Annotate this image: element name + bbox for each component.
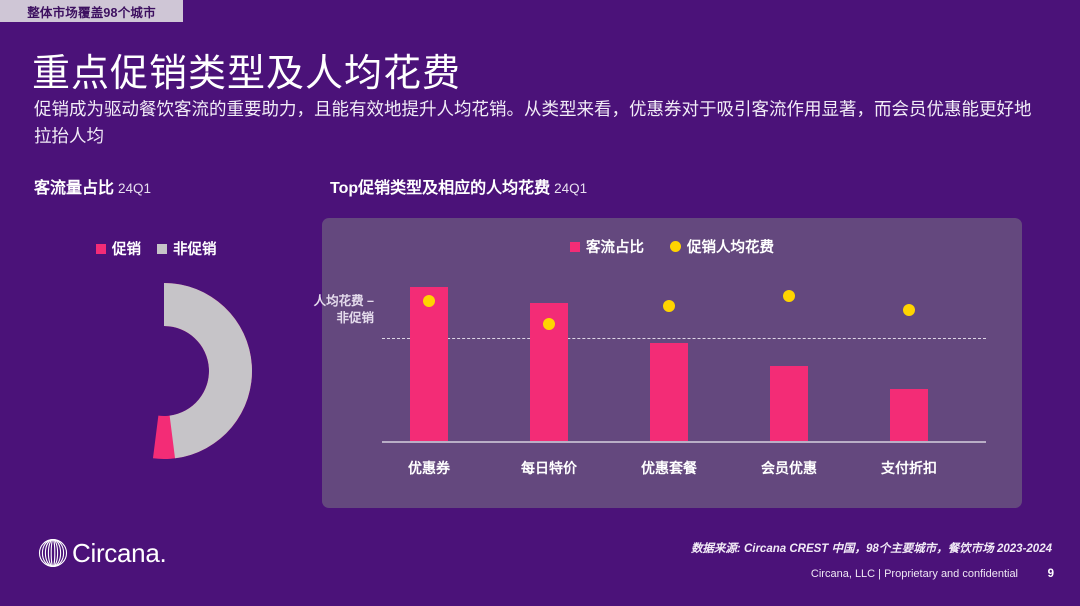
section-header-right: Top促销类型及相应的人均花费24Q1 (330, 174, 587, 198)
slide-root: 整体市场覆盖98个城市 重点促销类型及人均花费 促销成为驱动餐饮客流的重要助力，… (0, 0, 1080, 606)
donut-chart (73, 280, 255, 462)
section-right-period: 24Q1 (554, 181, 587, 196)
page-number: 9 (1048, 568, 1054, 580)
scatter-dot-会员优惠 (783, 290, 795, 302)
x-axis-line (382, 441, 986, 443)
scatter-dot-支付折扣 (903, 304, 915, 316)
section-left-period: 24Q1 (118, 181, 151, 196)
section-left-title: 客流量占比 (34, 180, 114, 197)
category-label-优惠券: 优惠券 (374, 458, 484, 478)
category-label-会员优惠: 会员优惠 (734, 458, 844, 478)
circana-logo-text: Circana. (72, 538, 166, 569)
confidentiality-note: Circana, LLC | Proprietary and confident… (811, 568, 1018, 580)
section-header-left: 客流量占比24Q1 (34, 174, 151, 198)
legend-swatch-icon-non-promotion (157, 244, 167, 254)
legend-swatch-icon-promotion (96, 244, 106, 254)
category-label-优惠套餐: 优惠套餐 (614, 458, 724, 478)
circana-logo: Circana. (36, 536, 166, 570)
category-label-支付折扣: 支付折扣 (854, 458, 964, 478)
donut-legend: 促销 非促销 (96, 238, 217, 259)
scatter-dot-优惠套餐 (663, 300, 675, 312)
category-label-每日特价: 每日特价 (494, 458, 604, 478)
reference-line-label-line1: 人均花费 – (288, 293, 374, 310)
legend-item-non-promotion: 非促销 (157, 238, 217, 259)
bar-支付折扣 (890, 389, 928, 441)
scatter-dot-优惠券 (423, 295, 435, 307)
top-tag-label: 整体市场覆盖98个城市 (27, 2, 156, 21)
reference-line (382, 338, 986, 339)
bar-优惠套餐 (650, 343, 688, 441)
section-right-title: Top促销类型及相应的人均花费 (330, 180, 550, 197)
reference-line-label-line2: 非促销 (288, 310, 374, 327)
page-title: 重点促销类型及人均花费 (32, 42, 461, 97)
top-tag-banner: 整体市场覆盖98个城市 (0, 0, 183, 22)
legend-label-non-promotion: 非促销 (173, 238, 217, 259)
page-subtitle: 促销成为驱动餐饮客流的重要助力，且能有效地提升人均花销。从类型来看，优惠券对于吸… (34, 96, 1046, 150)
legend-label-promotion: 促销 (112, 238, 141, 259)
donut-slice-非促销 (164, 283, 252, 458)
bar-优惠券 (410, 287, 448, 441)
bar-chart-plot: 人均花费 – 非促销 优惠券每日特价优惠套餐会员优惠支付折扣 (322, 218, 1022, 508)
circana-globe-icon (36, 536, 70, 570)
legend-item-promotion: 促销 (96, 238, 141, 259)
source-note: 数据来源: Circana CREST 中国，98个主要城市，餐饮市场 2023… (691, 540, 1052, 556)
bar-会员优惠 (770, 366, 808, 441)
donut-chart-svg (73, 280, 255, 462)
reference-line-label: 人均花费 – 非促销 (288, 293, 374, 327)
